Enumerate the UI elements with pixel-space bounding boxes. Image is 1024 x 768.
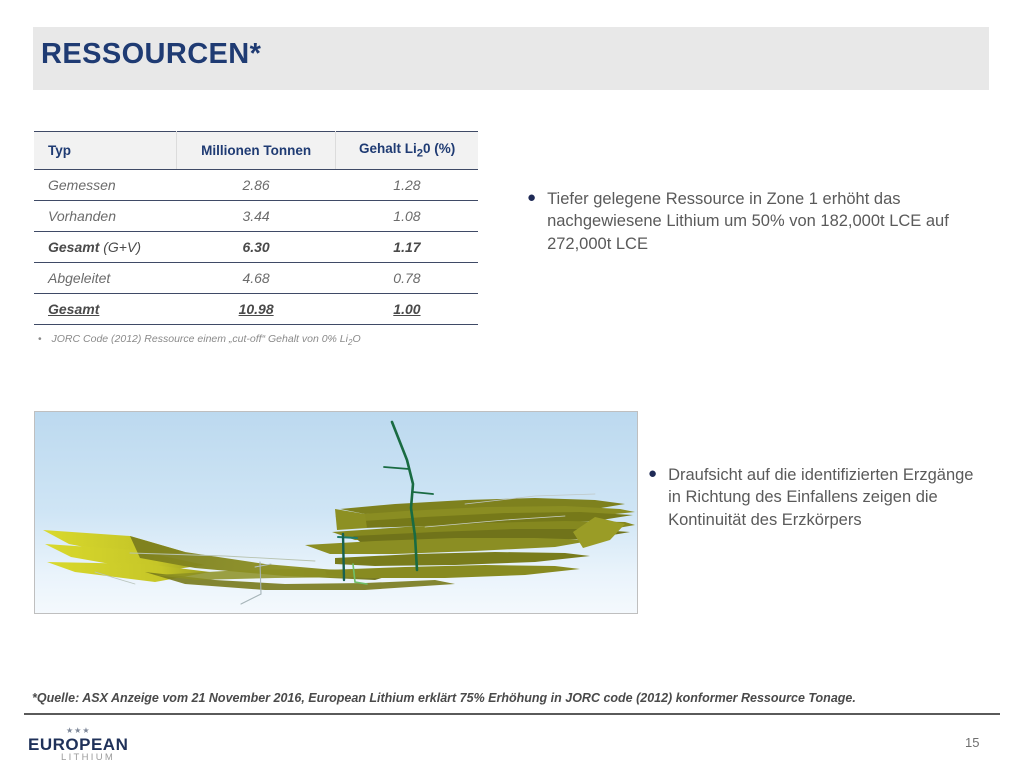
bullet-text: Draufsicht auf die identifizierten Erzgä… <box>668 464 978 531</box>
table-row: Gemessen 2.86 1.28 <box>34 169 478 200</box>
grade-label-a: Gehalt Li <box>359 141 417 156</box>
table-row: Abgeleitet 4.68 0.78 <box>34 262 478 293</box>
row-grade: 1.28 <box>336 169 478 200</box>
row-label: Abgeleitet <box>34 262 176 293</box>
footnote-text-b: O <box>352 333 360 345</box>
ore-body-svg <box>35 412 637 613</box>
footer-divider <box>24 713 1000 715</box>
row-label: Vorhanden <box>34 200 176 231</box>
footnote-text-a: JORC Code (2012) Ressource einem „cut-of… <box>52 333 348 345</box>
row-grade: 1.00 <box>336 293 478 324</box>
column-header-grade: Gehalt Li20 (%) <box>336 132 478 170</box>
table-row: Vorhanden 3.44 1.08 <box>34 200 478 231</box>
logo-sub-text: LITHIUM <box>61 752 115 763</box>
row-label: Gesamt (G+V) <box>34 231 176 262</box>
table-footnote: • JORC Code (2012) Ressource einem „cut-… <box>38 333 508 347</box>
table-row-subtotal: Gesamt (G+V) 6.30 1.17 <box>34 231 478 262</box>
row-grade-value: 1.00 <box>393 301 420 317</box>
row-label: Gemessen <box>34 169 176 200</box>
bullet-text: Tiefer gelegene Ressource in Zone 1 erhö… <box>547 188 977 255</box>
row-tonnes: 10.98 <box>176 293 335 324</box>
footnote-text: JORC Code (2012) Ressource einem „cut-of… <box>52 333 361 347</box>
bullet-marker-icon: ● <box>527 188 536 255</box>
row-label: Gesamt <box>34 293 176 324</box>
row-label-main: Gesamt <box>48 239 99 255</box>
row-tonnes: 3.44 <box>176 200 335 231</box>
table-row-total: Gesamt 10.98 1.00 <box>34 293 478 324</box>
ore-body-3d-view <box>34 411 638 614</box>
column-header-typ: Typ <box>34 132 176 170</box>
bullet-item-resource-increase: ● Tiefer gelegene Ressource in Zone 1 er… <box>527 188 977 255</box>
footnote-bullet-icon: • <box>38 333 42 347</box>
row-label-main: Gesamt <box>48 301 99 317</box>
row-tonnes-value: 10.98 <box>239 301 274 317</box>
logo-stars-icon: ★★★ <box>66 726 91 735</box>
row-label-suffix: (G+V) <box>99 239 141 255</box>
page-number: 15 <box>965 735 979 750</box>
bullet-marker-icon: ● <box>648 464 657 531</box>
source-note: *Quelle: ASX Anzeige vom 21 November 201… <box>32 691 856 705</box>
column-header-million-tonnes: Millionen Tonnen <box>176 132 335 170</box>
row-grade: 1.17 <box>336 231 478 262</box>
row-grade: 0.78 <box>336 262 478 293</box>
row-grade: 1.08 <box>336 200 478 231</box>
row-tonnes: 6.30 <box>176 231 335 262</box>
row-tonnes: 2.86 <box>176 169 335 200</box>
company-logo: ★★★ EUROPEAN LITHIUM <box>28 726 178 762</box>
bullet-item-orebody-continuity: ● Draufsicht auf die identifizierten Erz… <box>648 464 978 531</box>
page-title: RESSOURCEN* <box>41 38 261 71</box>
row-tonnes: 4.68 <box>176 262 335 293</box>
grade-label-b: 0 (%) <box>423 141 455 156</box>
table-header-row: Typ Millionen Tonnen Gehalt Li20 (%) <box>34 132 478 170</box>
resource-table: Typ Millionen Tonnen Gehalt Li20 (%) Gem… <box>34 131 478 325</box>
